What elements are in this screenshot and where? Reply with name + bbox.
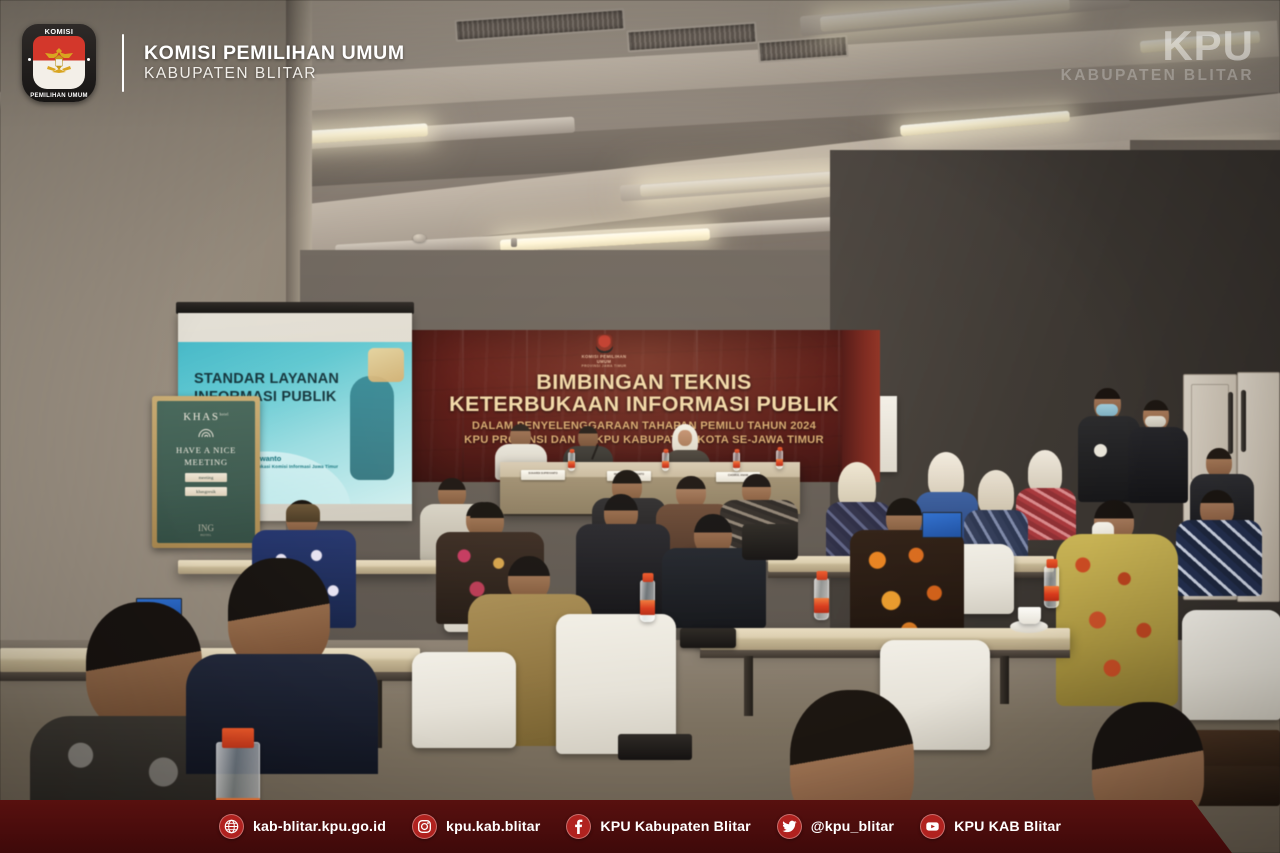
sprinkler-1 [511,238,517,247]
photo-screenshot: KOMISI PEMILIHAN UMUM PROVINSI JAWA TIMU… [0,0,1280,853]
board-footer-sub: HOTEL [157,533,255,537]
header-org-name: KOMISI PEMILIHAN UMUM [144,42,405,65]
backdrop-logo-mark [596,334,613,353]
footer-instagram-label: kpu.kab.blitar [446,819,540,835]
wifi-icon [198,429,214,440]
conference-room-scene: KOMISI PEMILIHAN UMUM PROVINSI JAWA TIMU… [0,0,1280,853]
instagram-icon [412,814,437,839]
backdrop-logo-line2: PROVINSI JAWA TIMUR [576,364,632,368]
kpu-logo-dot-right [87,58,90,61]
attendee-b-dark-right-body [662,548,766,628]
slide-corner-graphic [368,348,404,382]
backdrop-logo-line1: KOMISI PEMILIHAN UMUM [576,354,632,364]
foreground-attendee-left-head [86,602,202,732]
board-footer-text: ING [198,523,214,533]
backdrop-kpu-logo: KOMISI PEMILIHAN UMUM PROVINSI JAWA TIMU… [576,334,632,358]
nameplate-1-line1: SUHARDI SUPRIYANTO [521,472,565,475]
footer-item-instagram[interactable]: kpu.kab.blitar [412,814,540,839]
youtube-icon [920,814,945,839]
laptop-1[interactable] [922,512,962,538]
smoke-detector-1 [413,234,426,242]
standing-man-2-mask [1145,416,1166,427]
table-leg-c1 [744,656,753,716]
standing-man-1-mask [1096,404,1118,416]
header-divider [122,34,124,92]
facebook-icon [566,814,591,839]
bottle-row-c-3 [1044,566,1059,608]
backdrop-subtitle-line2: KPU PROVINSI DAN 38 KPU KABUPATEN/KOTA S… [408,434,880,446]
footer-twitter-label: @kpu_blitar [811,819,894,835]
backdrop-subtitle-line1: DALAM PENYELENGGARAAN TAHAPAN PEMILU TAH… [408,420,880,432]
bottle-row-c-1 [640,580,655,622]
head-table-bottle-3 [733,452,740,471]
door-handle-2[interactable] [1241,390,1246,452]
slide-hand-graphic [350,376,394,480]
twitter-icon [777,814,802,839]
chair-c2[interactable] [412,652,516,748]
foreground-attendee-mid-body [186,654,378,774]
nameplate-1: SUHARDI SUPRIYANTO [521,470,565,480]
header-brand: KOMISI PEMILIHAN UMUM KOMISI PEMILIHAN U… [22,24,405,102]
stationery-tray [680,628,736,648]
attendee-b-police-body [576,524,670,616]
board-footer-brand: INGHOTEL [157,523,255,537]
coffee-cup-2 [1018,607,1041,624]
head-table-bottle-4 [776,450,783,469]
kpu-logo-bottom-word: PEMILIHAN UMUM [22,93,96,99]
board-brand-sup: hotel [220,412,229,416]
footer-item-website[interactable]: kab-blitar.kpu.go.id [219,814,386,839]
stationery-tray-2 [618,734,692,760]
attendee-right-glasses-body [1176,520,1262,596]
footer-item-facebook[interactable]: KPU Kabupaten Blitar [566,814,750,839]
garuda-eagle-icon [42,45,76,75]
slide-title-line1: STANDAR LAYANAN [194,372,339,387]
header-region: KABUPATEN BLITAR [144,65,405,84]
wifi-ssid-chip: meeting [185,473,227,482]
footer-youtube-label: KPU KAB Blitar [954,819,1061,835]
header-text-block: KOMISI PEMILIHAN UMUM KABUPATEN BLITAR [144,42,405,84]
kpu-logo-top-word: KOMISI [22,27,96,36]
door-handle-1[interactable] [1228,392,1233,454]
head-table-bottle-1 [568,452,575,471]
kpu-logo-icon: KOMISI PEMILIHAN UMUM [22,24,96,102]
panelist-3-face [678,430,692,446]
social-footer-items: kab-blitar.kpu.go.id kpu.kab.blitar KPU … [0,800,1280,853]
table-leg-c2 [1000,656,1009,704]
chair-c3[interactable] [556,614,676,754]
board-line1: HAVE A NICE [157,445,255,455]
meeting-board: KHAShotel HAVE A NICE MEETING meeting kh… [157,401,255,543]
footer-website-label: kab-blitar.kpu.go.id [253,819,386,835]
board-brand: KHAShotel [157,411,255,423]
standing-man-1-badge [1094,444,1107,457]
kpu-logo-dot-left [28,58,31,61]
head-table-bottle-2 [662,452,669,471]
camera-bag [742,524,798,560]
footer-item-youtube[interactable]: KPU KAB Blitar [920,814,1061,839]
attendee-b-kopiah-cap [286,504,320,522]
standing-man-2-body [1128,427,1188,503]
attendee-b-batik-yellow-body [1056,534,1178,706]
board-brand-text: KHAS [183,411,219,423]
board-line2: MEETING [157,457,255,467]
chair-c5[interactable] [1182,610,1280,720]
bottle-row-c-2 [814,578,829,620]
globe-icon [219,814,244,839]
footer-facebook-label: KPU Kabupaten Blitar [600,819,750,835]
footer-item-twitter[interactable]: @kpu_blitar [777,814,894,839]
wifi-password-chip: khasgresik [185,487,227,496]
backdrop-title-line2: KETERBUKAAN INFORMASI PUBLIK [408,392,880,417]
